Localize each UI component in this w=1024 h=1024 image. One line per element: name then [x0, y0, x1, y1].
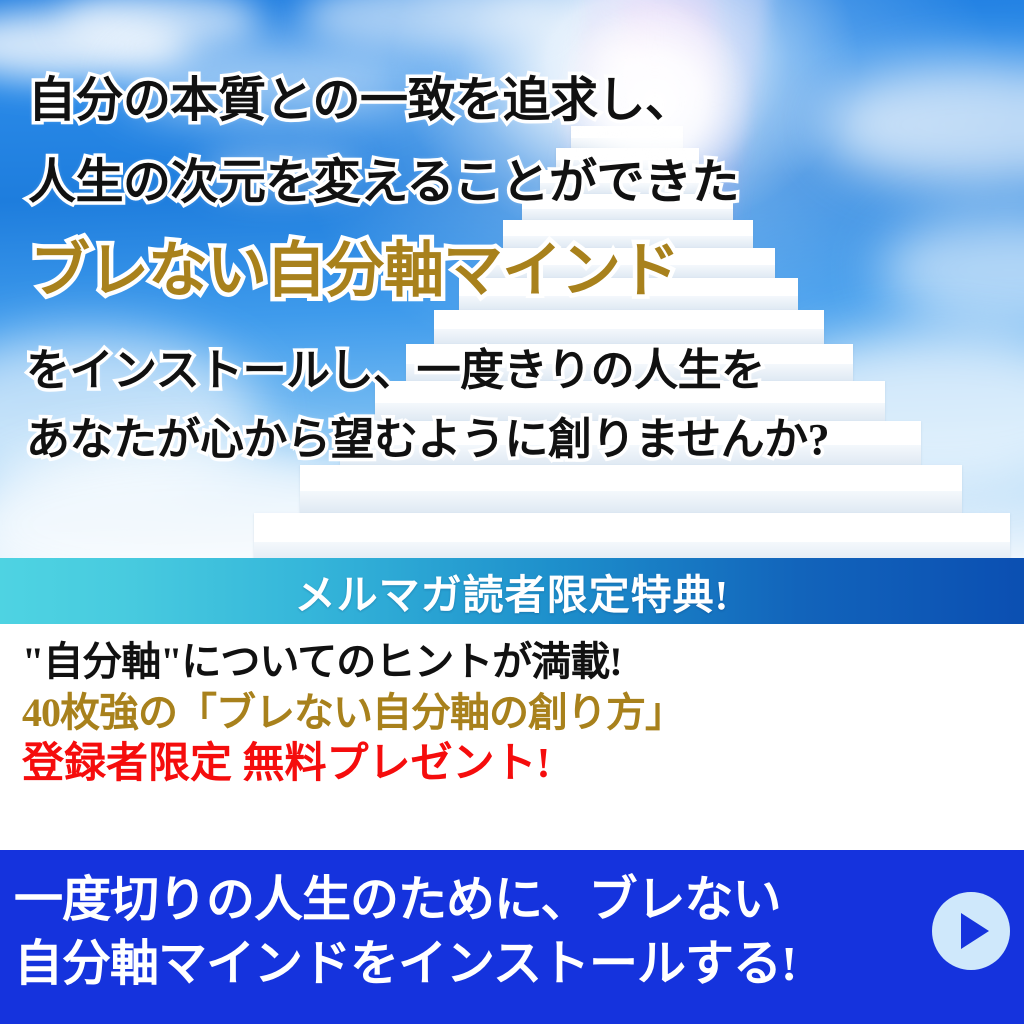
banner-label: メルマガ読者限定特典! [0, 561, 1024, 621]
play-triangle-icon [961, 913, 989, 949]
hero-text-block: 自分の本質との一致を追求し、 人生の次元を変えることができた ブレない自分軸マイ… [0, 0, 1024, 558]
headline-line-4: をインストールし、一度きりの人生を [26, 334, 765, 398]
bonus-line-3: 登録者限定 無料プレゼント! [22, 738, 684, 791]
bonus-line-1: "自分軸"についてのヒントが満載! [22, 638, 684, 687]
bonus-text-block: "自分軸"についてのヒントが満載! 40枚強の「ブレない自分軸の創り方」 登録者… [22, 638, 684, 791]
subscriber-bonus-banner: メルマガ読者限定特典! [0, 558, 1024, 624]
bonus-line-2: 40枚強の「ブレない自分軸の創り方」 [22, 687, 684, 738]
headline-line-5: あなたが心から望むように創りませんか? [26, 403, 829, 467]
cta-line-1: 一度切りの人生のために、ブレない [14, 868, 918, 932]
headline-line-1: 自分の本質との一致を追求し、 [28, 60, 693, 130]
headline-highlight-gold: ブレない自分軸マインド [30, 222, 679, 309]
cta-bar[interactable]: 一度切りの人生のために、ブレない 自分軸マインドをインストールする! [0, 850, 1024, 1024]
hero-section: 自分の本質との一致を追求し、 人生の次元を変えることができた ブレない自分軸マイ… [0, 0, 1024, 558]
headline-line-2: 人生の次元を変えることができた [28, 142, 739, 212]
cta-line-2: 自分軸マインドをインストールする! [14, 932, 918, 996]
cta-text-block: 一度切りの人生のために、ブレない 自分軸マインドをインストールする! [14, 868, 918, 995]
landing-page-banner: 自分の本質との一致を追求し、 人生の次元を変えることができた ブレない自分軸マイ… [0, 0, 1024, 1024]
bonus-section: "自分軸"についてのヒントが満載! 40枚強の「ブレない自分軸の創り方」 登録者… [0, 624, 1024, 850]
play-icon[interactable] [932, 892, 1010, 970]
